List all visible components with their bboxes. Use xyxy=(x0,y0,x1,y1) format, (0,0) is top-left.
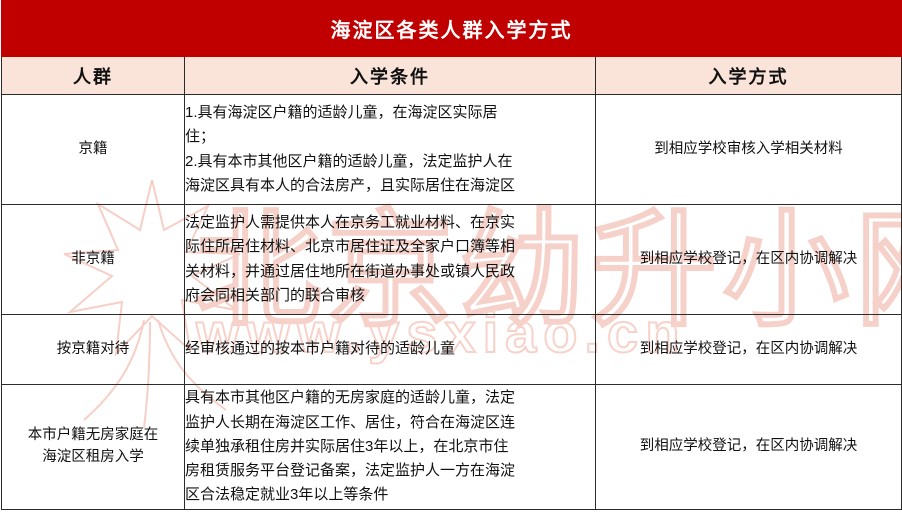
cell-method: 到相应学校登记，在区内协调解决 xyxy=(596,205,902,315)
condition-line: 住； xyxy=(185,125,595,149)
cell-group: 京籍 xyxy=(2,95,185,205)
cell-group: 本市户籍无房家庭在 海淀区租房入学 xyxy=(2,385,185,510)
table-row: 非京籍 法定监护人需提供本人在京务工就业材料、在京实 际住所居住材料、北京市居住… xyxy=(2,205,902,315)
condition-line: 经审核通过的按本市户籍对待的适龄儿童 xyxy=(185,337,595,361)
condition-line: 际住所居住材料、北京市居住证及全家户口簿等相 xyxy=(185,235,595,259)
condition-line: 关材料，并通过居住地所在街道办事处或镇人民政 xyxy=(185,260,595,284)
table-row: 按京籍对待 经审核通过的按本市户籍对待的适龄儿童 到相应学校登记，在区内协调解决 xyxy=(2,315,902,385)
column-header-conditions: 入学条件 xyxy=(185,57,596,95)
column-header-group: 人群 xyxy=(2,57,185,95)
column-header-method: 入学方式 xyxy=(596,57,902,95)
table-container: 海淀区各类人群入学方式 人群 入学条件 入学方式 京籍 1.具有海淀区户籍的适龄… xyxy=(1,0,901,510)
condition-line: 法定监护人需提供本人在京务工就业材料、在京实 xyxy=(185,211,595,235)
title-row: 海淀区各类人群入学方式 xyxy=(2,1,902,57)
condition-line: 1.具有海淀区户籍的适龄儿童，在海淀区实际居 xyxy=(185,101,595,125)
condition-line: 具有本市其他区户籍的无房家庭的适龄儿童，法定 xyxy=(185,386,595,410)
condition-line: 房租赁服务平台登记备案，法定监护人一方在海淀 xyxy=(185,459,595,483)
cell-group: 按京籍对待 xyxy=(2,315,185,385)
header-row: 人群 入学条件 入学方式 xyxy=(2,57,902,95)
cell-method: 到相应学校登记，在区内协调解决 xyxy=(596,315,902,385)
page-root: 北京幼升小网 www.ysxiao.cn 海淀区各类人群入学方式 人群 入学条件… xyxy=(0,0,902,512)
condition-line: 府会同相关部门的联合审核 xyxy=(185,284,595,308)
enrollment-table: 海淀区各类人群入学方式 人群 入学条件 入学方式 京籍 1.具有海淀区户籍的适龄… xyxy=(1,0,902,510)
condition-line: 区合法稳定就业3年以上等条件 xyxy=(185,483,595,507)
condition-line: 2.具有本市其他区户籍的适龄儿童，法定监护人在 xyxy=(185,150,595,174)
table-row: 本市户籍无房家庭在 海淀区租房入学 具有本市其他区户籍的无房家庭的适龄儿童，法定… xyxy=(2,385,902,510)
condition-line: 续单独承租住房并实际居住3年以上，在北京市住 xyxy=(185,435,595,459)
table-row: 京籍 1.具有海淀区户籍的适龄儿童，在海淀区实际居 住； 2.具有本市其他区户籍… xyxy=(2,95,902,205)
cell-conditions: 法定监护人需提供本人在京务工就业材料、在京实 际住所居住材料、北京市居住证及全家… xyxy=(185,205,596,315)
group-line: 海淀区租房入学 xyxy=(2,447,184,469)
condition-line: 海淀区具有本人的合法房产，且实际居住在海淀区 xyxy=(185,174,595,198)
condition-line: 监护人长期在海淀区工作、居住，符合在海淀区连 xyxy=(185,411,595,435)
group-line: 本市户籍无房家庭在 xyxy=(2,425,184,447)
cell-conditions: 1.具有海淀区户籍的适龄儿童，在海淀区实际居 住； 2.具有本市其他区户籍的适龄… xyxy=(185,95,596,205)
cell-group: 非京籍 xyxy=(2,205,185,315)
cell-conditions: 具有本市其他区户籍的无房家庭的适龄儿童，法定 监护人长期在海淀区工作、居住，符合… xyxy=(185,385,596,510)
cell-conditions: 经审核通过的按本市户籍对待的适龄儿童 xyxy=(185,315,596,385)
cell-method: 到相应学校登记，在区内协调解决 xyxy=(596,385,902,510)
page-title: 海淀区各类人群入学方式 xyxy=(2,1,902,57)
cell-method: 到相应学校审核入学相关材料 xyxy=(596,95,902,205)
